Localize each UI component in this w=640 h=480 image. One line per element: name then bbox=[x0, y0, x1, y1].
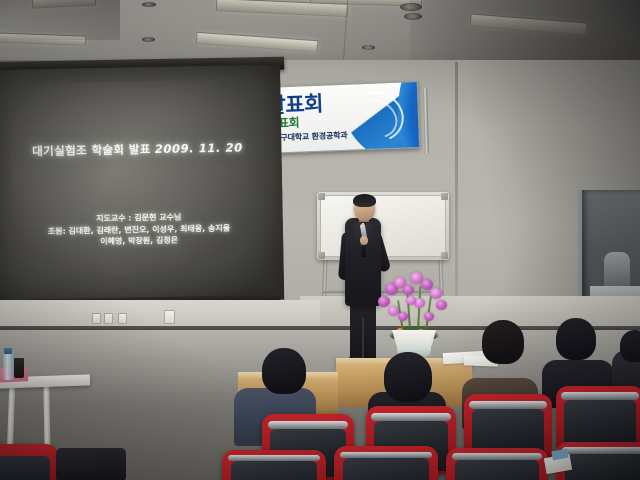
photo-scene: 발표회 발표회 : 대구대학교 환경공학과 대기실험조 학술회 발표2009. … bbox=[0, 0, 640, 480]
presenter-hair bbox=[353, 194, 376, 207]
orchid-bloom bbox=[424, 312, 434, 321]
chair-chrome-trim bbox=[452, 453, 542, 459]
orchid-bloom bbox=[406, 296, 416, 305]
auditorium-chair[interactable] bbox=[334, 446, 438, 480]
presenter-leg-split bbox=[362, 318, 364, 362]
slide-subtext-block: 지도교수 : 김문현 교수님 조원: 김대환, 김래란, 변진오, 이성우, 최… bbox=[0, 210, 283, 250]
auditorium-chair[interactable] bbox=[222, 450, 326, 480]
chair-chrome-trim bbox=[561, 392, 638, 400]
water-bottle[interactable] bbox=[3, 352, 14, 380]
auditorium-chair[interactable] bbox=[556, 386, 640, 450]
whiteboard-corner bbox=[318, 252, 325, 259]
chair-chrome-trim bbox=[268, 421, 349, 429]
audience-foreground-item bbox=[56, 448, 126, 480]
audience-far-right-head bbox=[620, 330, 640, 362]
wall-outlet[interactable] bbox=[164, 310, 175, 324]
slide-title-date: 2009. 11. 20 bbox=[155, 140, 243, 156]
chair-chrome-trim bbox=[469, 401, 546, 409]
audience-front-mid-head bbox=[384, 352, 432, 402]
chair-chrome-trim bbox=[340, 452, 432, 459]
wall-outlet[interactable] bbox=[92, 313, 101, 324]
ceiling-vent bbox=[142, 2, 156, 7]
auditorium-chair[interactable] bbox=[446, 448, 548, 480]
orchid-bloom bbox=[430, 288, 442, 299]
presenter-legs bbox=[350, 300, 376, 362]
ceiling-shadow-right bbox=[410, 0, 640, 66]
chair-chrome-trim bbox=[371, 413, 450, 421]
dark-cup[interactable] bbox=[14, 358, 24, 378]
projection-screen: 대기실험조 학술회 발표2009. 11. 20 지도교수 : 김문현 교수님 … bbox=[0, 65, 284, 305]
chair-backrest-pad bbox=[564, 400, 636, 447]
chair-backrest-pad bbox=[455, 460, 539, 480]
whiteboard-corner bbox=[318, 193, 325, 200]
whiteboard-corner bbox=[441, 193, 448, 200]
chair-backrest-pad bbox=[0, 456, 50, 480]
chair-backrest-pad bbox=[231, 461, 316, 480]
wall-outlet[interactable] bbox=[104, 313, 113, 324]
audience-right-head bbox=[556, 318, 596, 360]
slide-title-text: 대기실험조 학술회 발표 bbox=[32, 142, 151, 158]
wall-outlet[interactable] bbox=[118, 313, 127, 324]
chair-chrome-trim bbox=[562, 447, 640, 453]
ceiling-vent bbox=[362, 45, 375, 50]
orchid-bloom bbox=[403, 285, 414, 295]
bottle-cap bbox=[4, 348, 12, 354]
chair-backrest-pad bbox=[343, 458, 428, 480]
orchid-bloom bbox=[436, 300, 447, 310]
audience-mid-right-head bbox=[482, 320, 524, 364]
whiteboard-corner bbox=[441, 252, 448, 259]
orchid-bloom bbox=[398, 312, 408, 321]
ceiling-shadow-left bbox=[0, 0, 120, 40]
auditorium-chair[interactable] bbox=[0, 444, 58, 480]
wall-banner: 발표회 발표회 : 대구대학교 환경공학과 bbox=[261, 81, 420, 154]
orchid-bloom bbox=[378, 296, 390, 307]
screen-glow bbox=[10, 79, 267, 286]
ceiling-vent bbox=[142, 37, 155, 42]
whiteboard-crossbar bbox=[322, 290, 444, 293]
audience-front-left-head bbox=[262, 348, 306, 394]
presenter-hand bbox=[360, 236, 368, 245]
chair-backrest-pad bbox=[565, 454, 640, 480]
